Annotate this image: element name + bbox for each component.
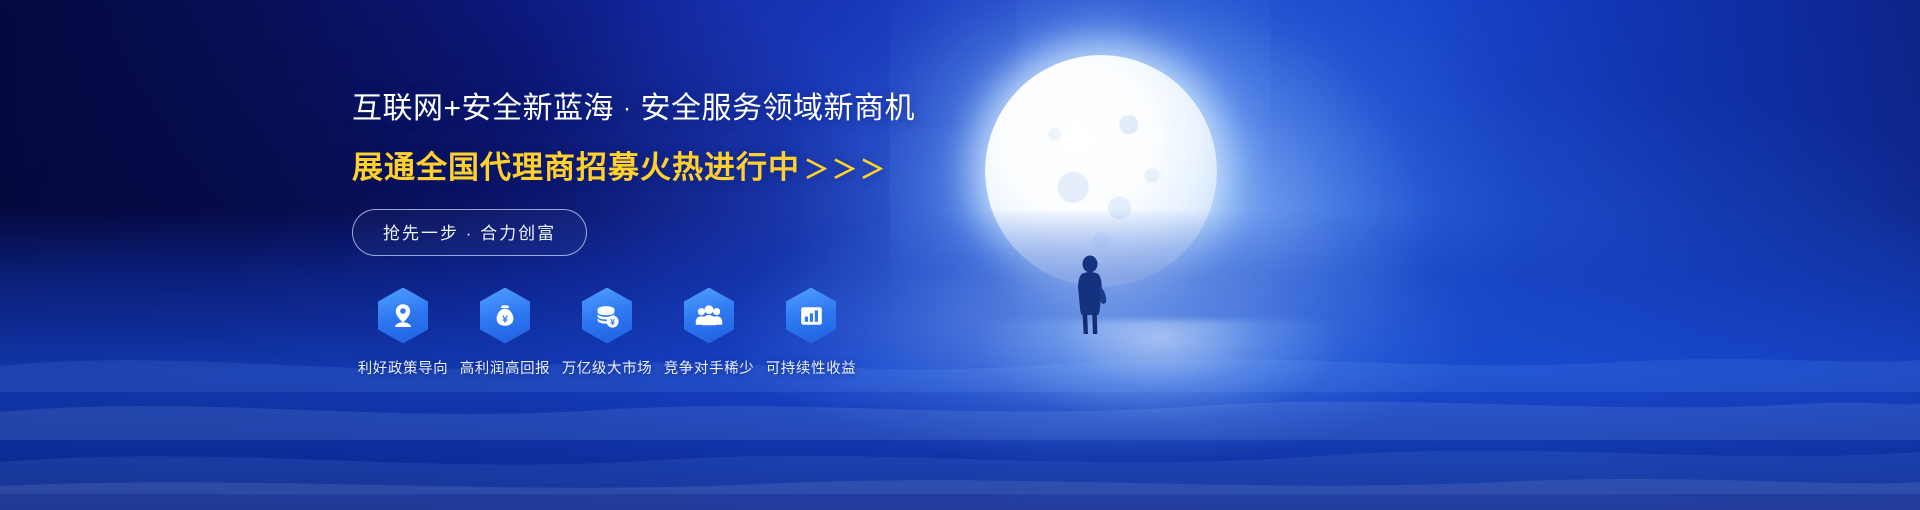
hex-badge: ¥ (480, 288, 530, 344)
banner-content: 互联网+安全新蓝海·安全服务领域新商机 展通全国代理商招募火热进行中＞＞＞ 抢先… (352, 90, 1332, 378)
bar-chart-icon (799, 304, 824, 328)
svg-text:¥: ¥ (502, 313, 508, 325)
subline-text: 展通全国代理商招募火热进行中 (352, 150, 800, 185)
hex-badge (786, 288, 836, 344)
coin-stack-icon: ¥ (594, 303, 620, 329)
money-bag-icon: ¥ (493, 303, 517, 329)
feature-list: 利好政策导向 ¥ 高利润高回报 (352, 288, 1332, 378)
feature-item-policy[interactable]: 利好政策导向 (352, 288, 454, 378)
headline-separator: · (614, 95, 641, 122)
feature-item-market[interactable]: ¥ 万亿级大市场 (556, 288, 658, 378)
feature-label: 高利润高回报 (460, 357, 551, 378)
hex-badge (378, 288, 428, 344)
location-pin-icon (391, 303, 415, 329)
headline-part-1: 互联网+安全新蓝海 (352, 92, 614, 125)
feature-label: 可持续性收益 (766, 357, 857, 378)
people-group-icon (695, 304, 723, 328)
feature-item-profit[interactable]: ¥ 高利润高回报 (454, 288, 556, 378)
slogan-pill-button[interactable]: 抢先一步 · 合力创富 (352, 209, 587, 256)
feature-label: 竞争对手稀少 (664, 357, 755, 378)
svg-text:¥: ¥ (610, 317, 615, 327)
hex-badge (684, 288, 734, 344)
headline-part-2: 安全服务领域新商机 (641, 92, 916, 125)
feature-label: 万亿级大市场 (562, 357, 653, 378)
recruitment-subtitle: 展通全国代理商招募火热进行中＞＞＞ (352, 142, 1332, 187)
hex-badge: ¥ (582, 288, 632, 344)
feature-item-competition[interactable]: 竞争对手稀少 (658, 288, 760, 378)
feature-item-revenue[interactable]: 可持续性收益 (760, 288, 862, 378)
arrows-icon: ＞＞＞ (800, 156, 888, 184)
promo-banner: 互联网+安全新蓝海·安全服务领域新商机 展通全国代理商招募火热进行中＞＞＞ 抢先… (0, 0, 1920, 510)
feature-label: 利好政策导向 (358, 357, 449, 378)
page-title: 互联网+安全新蓝海·安全服务领域新商机 (352, 90, 1332, 128)
